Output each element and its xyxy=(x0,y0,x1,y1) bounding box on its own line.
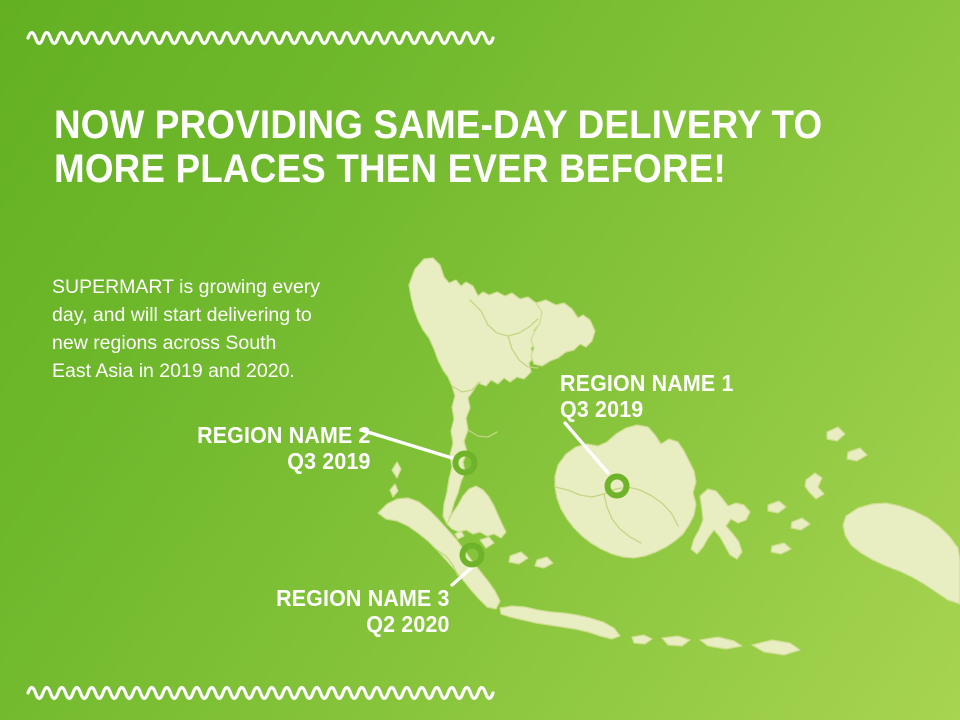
body-line-3: new regions across South xyxy=(52,329,372,357)
body-line-2: day, and will start delivering to xyxy=(52,301,372,329)
page-title: NOW PROVIDING SAME-DAY DELIVERY TO MORE … xyxy=(54,103,827,191)
connector-line-region-2 xyxy=(361,430,452,458)
headline-line-2: MORE PLACES THEN EVER BEFORE! xyxy=(54,147,827,191)
region-callout-2: REGION NAME 2 Q3 2019 xyxy=(197,422,371,474)
region-1-date: Q3 2019 xyxy=(560,396,734,422)
map-pin-region-1[interactable] xyxy=(608,477,627,496)
body-paragraph: SUPERMART is growing every day, and will… xyxy=(52,273,372,385)
region-callout-1: REGION NAME 1 Q3 2019 xyxy=(560,370,734,422)
connector-line-region-1 xyxy=(565,423,608,473)
headline-line-1: NOW PROVIDING SAME-DAY DELIVERY TO xyxy=(54,103,827,147)
map-pins xyxy=(456,454,627,565)
region-callout-3: REGION NAME 3 Q2 2020 xyxy=(276,585,450,637)
region-3-name: REGION NAME 3 xyxy=(276,585,450,611)
body-line-4: East Asia in 2019 and 2020. xyxy=(52,357,372,385)
region-2-date: Q3 2019 xyxy=(197,448,371,474)
infographic-poster: NOW PROVIDING SAME-DAY DELIVERY TO MORE … xyxy=(0,0,960,720)
region-3-date: Q2 2020 xyxy=(276,611,450,637)
region-2-name: REGION NAME 2 xyxy=(197,422,371,448)
map-pin-region-3[interactable] xyxy=(463,546,482,565)
map-pin-region-2[interactable] xyxy=(456,454,475,473)
body-line-1: SUPERMART is growing every xyxy=(52,273,372,301)
region-1-name: REGION NAME 1 xyxy=(560,370,734,396)
